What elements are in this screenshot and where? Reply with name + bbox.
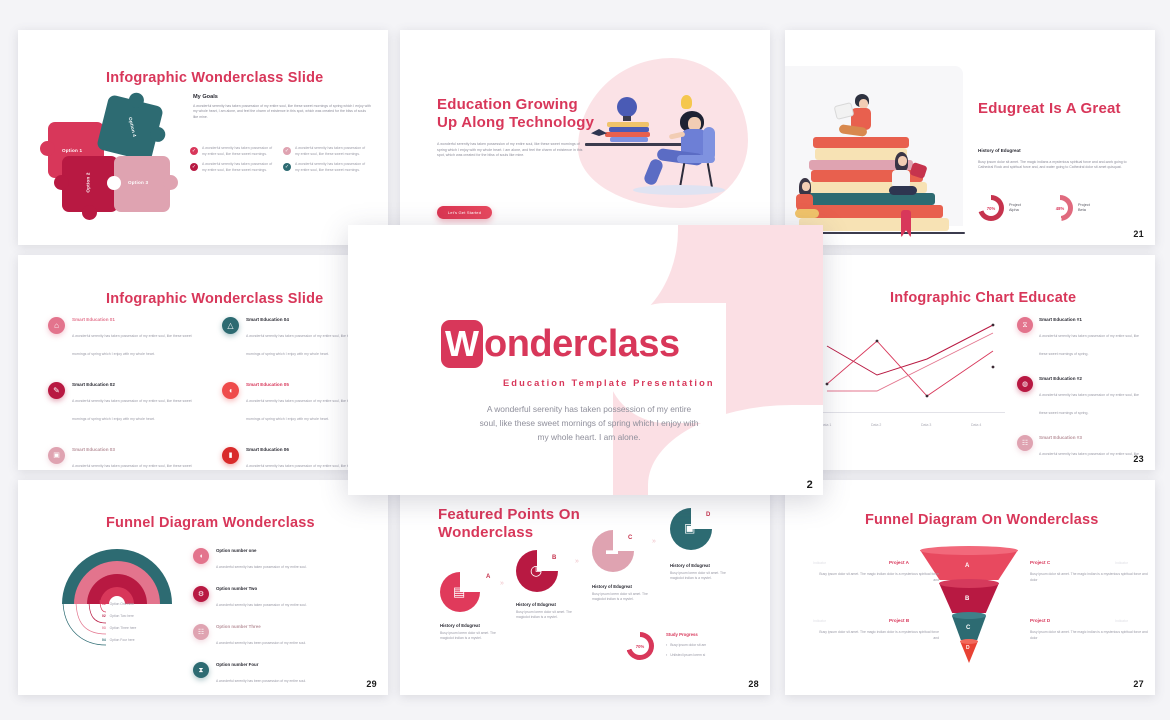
arrow-icon: »	[575, 558, 579, 565]
funnel-letter-b: B	[965, 596, 969, 602]
book	[797, 205, 943, 218]
list-item: ✓ A wonderful serenity has taken possess…	[190, 162, 275, 173]
presentation-mockup-canvas: Infographic Wonderclass Slide Option 1 O…	[0, 0, 1170, 720]
student-left-body	[796, 194, 813, 210]
funnel-segment-b: B	[939, 583, 999, 613]
project-body: Busy ipsum dolor sit amet. The magic ind…	[819, 572, 939, 583]
bank-icon: ⌂	[48, 317, 65, 334]
lightbulb-icon	[681, 95, 692, 109]
section-heading: My Goals	[193, 94, 371, 100]
list-item[interactable]: ◖ Smart Education 05A wonderful serenity…	[222, 382, 368, 425]
bullet-text: Unlisted ipsum lorem si	[670, 653, 705, 657]
option-heading: Option number Four	[216, 662, 306, 667]
legend-text: Option Four here	[110, 638, 135, 642]
goal-text: A wonderful serenity has taken possessio…	[295, 146, 368, 157]
check-icon: ✓	[283, 147, 291, 155]
brand-logo: W onderclass	[441, 320, 680, 368]
project-body: Busy ipsum dolor sit amet. The magic ind…	[819, 630, 939, 641]
page-number: 23	[1133, 454, 1144, 464]
option-body: A wonderful serenity has been possession…	[216, 679, 306, 683]
slide-featured-points[interactable]: Featured Points On Wonderclass ▤ A Histo…	[400, 480, 770, 695]
project-ghost-label: Indicator	[1115, 561, 1128, 565]
step-letter-b: B	[552, 555, 556, 561]
page-title: Infographic Wonderclass Slide	[106, 70, 323, 87]
hourglass-icon: ⧖	[1017, 317, 1033, 333]
arrow-icon: »	[652, 538, 656, 545]
x-tick-label: Data 4	[971, 423, 981, 427]
project-heading: Project A	[889, 560, 909, 565]
project-ghost-label: Indicator	[813, 561, 826, 565]
list-item[interactable]: ☷ Option number ThreeA wonderful serenit…	[193, 624, 373, 649]
book-icon: ☷	[193, 624, 209, 640]
step-heading: History of Edugreat	[592, 584, 632, 589]
briefcase-icon: ▬	[606, 544, 618, 556]
list-item[interactable]: △ Smart Education 04A wonderful serenity…	[222, 317, 368, 360]
bullet-dot: ▪	[666, 653, 667, 657]
project-heading: Project D	[1030, 618, 1050, 623]
project-ghost-label: Indicator	[1115, 619, 1128, 623]
study-progress-donut: 70%	[626, 632, 654, 660]
funnel-letter-a: A	[965, 563, 969, 569]
puzzle-label: Option 1	[62, 148, 82, 153]
page-title: Featured Points On Wonderclass	[438, 506, 588, 542]
legend-heading: Smart Education #2	[1039, 376, 1141, 381]
slide-edugreat[interactable]: Edugreat Is A Great History of Edugreat …	[785, 30, 1155, 245]
project-body: Busy ipsum dolor sit amet. The magic ind…	[1030, 572, 1150, 583]
gear-icon: ⚙	[193, 586, 209, 602]
legend-item[interactable]: ⧖ Smart Education #1A wonderful serenity…	[1017, 317, 1141, 360]
slide-infographic-puzzle[interactable]: Infographic Wonderclass Slide Option 1 O…	[18, 30, 388, 245]
legend-item: 02 Option Two here	[102, 614, 180, 618]
chart-svg	[815, 321, 1005, 413]
book-icon: ✎	[48, 382, 65, 399]
legend-number: 01	[102, 602, 106, 606]
page-number: 28	[748, 679, 759, 689]
legend-body: A wonderful serenity has taken possessio…	[1039, 334, 1139, 356]
cup-icon: ▣	[48, 447, 65, 464]
cover-subtitle: Education Template Presentation	[503, 378, 715, 388]
student-left-face	[802, 182, 810, 191]
legend-item: 04 Option Four here	[102, 638, 180, 642]
legend-heading: Smart Education #3	[1039, 435, 1141, 440]
slide-smart-education[interactable]: Infographic Wonderclass Slide ⌂ Smart Ed…	[18, 255, 388, 470]
donut-chart: 48%	[1047, 195, 1073, 221]
item-heading: Smart Education 01	[72, 317, 194, 322]
page-number: 2	[807, 479, 813, 491]
legend-item[interactable]: ◍ Smart Education #2A wonderful serenity…	[1017, 376, 1141, 419]
list-item: ✓ A wonderful serenity has taken possess…	[283, 146, 368, 157]
list-item[interactable]: ▮ Smart Education 06A wonderful serenity…	[222, 447, 368, 470]
project-heading: Project C	[1030, 560, 1050, 565]
legend-number: 02	[102, 614, 106, 618]
get-started-button[interactable]: Let's Get Started	[437, 206, 492, 219]
list-item[interactable]: ✎ Smart Education 02A wonderful serenity…	[48, 382, 194, 425]
book	[813, 137, 909, 148]
project-body: Busy ipsum dolor sit amet. The magic ind…	[1030, 630, 1150, 641]
item-heading: Smart Education 03	[72, 447, 194, 452]
page-number: 27	[1133, 679, 1144, 689]
page-title: Funnel Diagram On Wonderclass	[865, 512, 1099, 529]
option-body: A wonderful serenity has taken possessio…	[216, 603, 307, 607]
title-line-2: Wonderclass	[438, 524, 588, 542]
donut-label: Project Alpha	[1009, 203, 1021, 214]
progress-heading: Study Progress	[666, 632, 698, 637]
option-list: ◖ Option number oneA wonderful serenity …	[193, 548, 373, 687]
book-icon: ☷	[1017, 435, 1033, 451]
student-left-legs	[795, 209, 819, 218]
my-goals-block: My Goals A wonderful serenity has taken …	[193, 94, 371, 120]
slide-education-growing[interactable]: Education Growing Up Along Technology A …	[400, 30, 770, 245]
puzzle-illustration: Option 1 Option 4 Option 2 Option 3	[40, 98, 180, 218]
arc-legend: 01 Option One here 02 Option Two here 03…	[102, 602, 180, 642]
list-item[interactable]: ⚙ Option number TwoA wonderful serenity …	[193, 586, 373, 611]
donut-label-line2: Alpha	[1009, 208, 1021, 214]
check-icon: ✓	[283, 163, 291, 171]
check-icon: ✓	[190, 147, 198, 155]
chart-legend: ⧖ Smart Education #1A wonderful serenity…	[1017, 317, 1141, 470]
bullet-text: Busy ipsum dolor sit am	[670, 643, 706, 647]
goal-text: A wonderful serenity has taken possessio…	[295, 162, 368, 173]
legend-text: Option Two here	[110, 614, 134, 618]
document-icon: ▤	[453, 585, 465, 598]
slide-infographic-chart[interactable]: Infographic Chart Educate Data 1 Data 2 …	[785, 255, 1155, 470]
option-body: A wonderful serenity has been possession…	[216, 641, 306, 645]
option-heading: Option number one	[216, 548, 307, 553]
step-heading: History of Edugreat	[440, 623, 480, 628]
funnel-letter-d: D	[966, 645, 970, 651]
goal-check-list: ✓ A wonderful serenity has taken possess…	[190, 146, 376, 173]
puzzle-label: Option 3	[128, 180, 148, 185]
stat-alpha: 70% Project Alpha	[978, 195, 1021, 221]
puzzle-label: Option 4	[128, 117, 137, 138]
item-heading: Smart Education 02	[72, 382, 194, 387]
globe-stand	[623, 116, 631, 121]
step-body: Busy ipsum lorem dolor sit amet. The mag…	[516, 610, 572, 621]
list-item: ✓ A wonderful serenity has taken possess…	[283, 162, 368, 173]
student-right-legs	[889, 186, 917, 195]
project-heading: Project B	[889, 618, 909, 623]
slide-funnel-3d[interactable]: Funnel Diagram On Wonderclass A B C D	[785, 480, 1155, 695]
step-letter-d: D	[706, 512, 710, 518]
legend-item[interactable]: ☷ Smart Education #3A wonderful serenity…	[1017, 435, 1141, 470]
clock-icon: ◷	[530, 563, 542, 577]
donut-value: 70%	[987, 206, 995, 211]
logo-wordmark: onderclass	[484, 323, 680, 366]
legend-text: Option Three here	[110, 626, 137, 630]
list-item: ✓ A wonderful serenity has taken possess…	[190, 146, 275, 157]
legend-item: 01 Option One here	[102, 602, 180, 606]
donut-chart: 70%	[978, 195, 1004, 221]
book	[815, 148, 907, 160]
progress-bullet: ▪Unlisted ipsum lorem si	[666, 653, 705, 657]
project-ghost-label: Indicator	[813, 619, 826, 623]
list-item[interactable]: ◖ Option number oneA wonderful serenity …	[193, 548, 373, 573]
megaphone-icon: ◖	[193, 548, 209, 564]
goal-text: A wonderful serenity has taken possessio…	[202, 146, 275, 157]
chair-seat	[677, 155, 715, 163]
section-heading: History of Edugreat	[978, 148, 1021, 153]
step-letter-c: C	[628, 535, 632, 541]
option-heading: Option number Three	[216, 624, 306, 629]
arrow-icon: »	[500, 580, 504, 587]
arc-diagram	[62, 546, 172, 604]
page-title: Funnel Diagram Wonderclass	[106, 515, 315, 532]
donut-label-line2: Beta	[1078, 208, 1090, 214]
books-illustration	[793, 82, 968, 237]
legend-body: A wonderful serenity has taken possessio…	[1039, 452, 1139, 470]
megaphone-icon: ◖	[222, 382, 239, 399]
legend-number: 04	[102, 638, 106, 642]
section-body: A wonderful serenity has taken possessio…	[193, 104, 371, 120]
step-body: Busy ipsum lorem dolor sit amet. The mag…	[592, 592, 648, 603]
title-line-1: Featured Points On	[438, 506, 588, 524]
legend-body: A wonderful serenity has taken possessio…	[1039, 393, 1139, 415]
logo-initial: W	[441, 320, 483, 368]
step-letter-a: A	[486, 574, 490, 580]
step-body: Busy ipsum lorem dolor sit amet. The mag…	[440, 631, 496, 642]
funnel-segment-c: C	[952, 616, 986, 640]
person-shin	[643, 158, 665, 187]
list-item[interactable]: ⌂ Smart Education 01A wonderful serenity…	[48, 317, 194, 360]
funnel-letter-c: C	[966, 625, 970, 631]
goal-text: A wonderful serenity has taken possessio…	[202, 162, 275, 173]
shadow-ellipse	[633, 185, 725, 195]
lightbulb-icon: ◍	[1017, 376, 1033, 392]
smart-education-grid: ⌂ Smart Education 01A wonderful serenity…	[48, 317, 368, 470]
list-item[interactable]: ▣ Smart Education 03A wonderful serenity…	[48, 447, 194, 470]
funnel-segment-d: D	[960, 641, 978, 663]
student-illustration	[585, 85, 750, 220]
item-body: A wonderful serenity has taken possessio…	[72, 399, 192, 421]
legend-heading: Smart Education #1	[1039, 317, 1141, 322]
flask-icon: △	[222, 317, 239, 334]
x-tick-label: Data 2	[871, 423, 881, 427]
step-body: Busy ipsum lorem dolor sit amet. The mag…	[670, 571, 726, 582]
legend-text: Option One here	[110, 602, 134, 606]
slide-cover-wonderclass[interactable]: W onderclass Education Template Presenta…	[348, 225, 823, 495]
list-item[interactable]: ⧗ Option number FourA wonderful serenity…	[193, 662, 373, 687]
student-right-face	[898, 156, 907, 166]
page-title: Edugreat Is A Great	[978, 100, 1121, 118]
step-a-shape: ▤	[440, 572, 480, 612]
section-body: Busy ipsum dolor sit amet. The magic ind…	[978, 160, 1138, 171]
step-heading: History of Edugreat	[670, 563, 710, 568]
page-number: 21	[1133, 229, 1144, 239]
x-axis	[815, 412, 1005, 413]
bullet-dot: ▪	[666, 643, 667, 647]
option-heading: Option number Two	[216, 586, 307, 591]
desk-surface	[585, 143, 690, 146]
check-icon: ✓	[190, 163, 198, 171]
page-title: Infographic Wonderclass Slide	[106, 291, 323, 308]
page-title: Infographic Chart Educate	[890, 290, 1076, 307]
chart-icon: ⧗	[193, 662, 209, 678]
page-number: 29	[366, 679, 377, 689]
presentation-icon: ▣	[684, 522, 695, 534]
progress-value: 70%	[636, 644, 644, 649]
progress-bullet: ▪Busy ipsum dolor sit am	[666, 643, 706, 647]
cover-paragraph: A wonderful serenity has taken possessio…	[478, 403, 700, 445]
funnel-3d-diagram: A B C D	[920, 550, 1018, 658]
door-icon: ▮	[222, 447, 239, 464]
slide-funnel-arc[interactable]: Funnel Diagram Wonderclass 01 Option One…	[18, 480, 388, 695]
donut-label: Project Beta	[1078, 203, 1090, 214]
step-heading: History of Edugreat	[516, 602, 556, 607]
chair-leg	[707, 163, 713, 189]
legend-item: 03 Option Three here	[102, 626, 180, 630]
book-stack	[610, 137, 648, 142]
x-tick-label: Data 3	[921, 423, 931, 427]
donut-value: 48%	[1056, 206, 1064, 211]
item-body: A wonderful serenity has taken possessio…	[72, 464, 192, 470]
item-body: A wonderful serenity has taken possessio…	[72, 334, 192, 356]
globe-icon	[617, 97, 637, 117]
option-body: A wonderful serenity has taken possessio…	[216, 565, 307, 569]
legend-number: 03	[102, 626, 106, 630]
puzzle-label: Option 2	[86, 172, 91, 192]
body-text: A wonderful serenity has taken possessio…	[437, 142, 585, 159]
stat-beta: 48% Project Beta	[1047, 195, 1090, 221]
line-chart: Data 1 Data 2 Data 3 Data 4	[815, 321, 1005, 431]
book	[801, 193, 935, 205]
